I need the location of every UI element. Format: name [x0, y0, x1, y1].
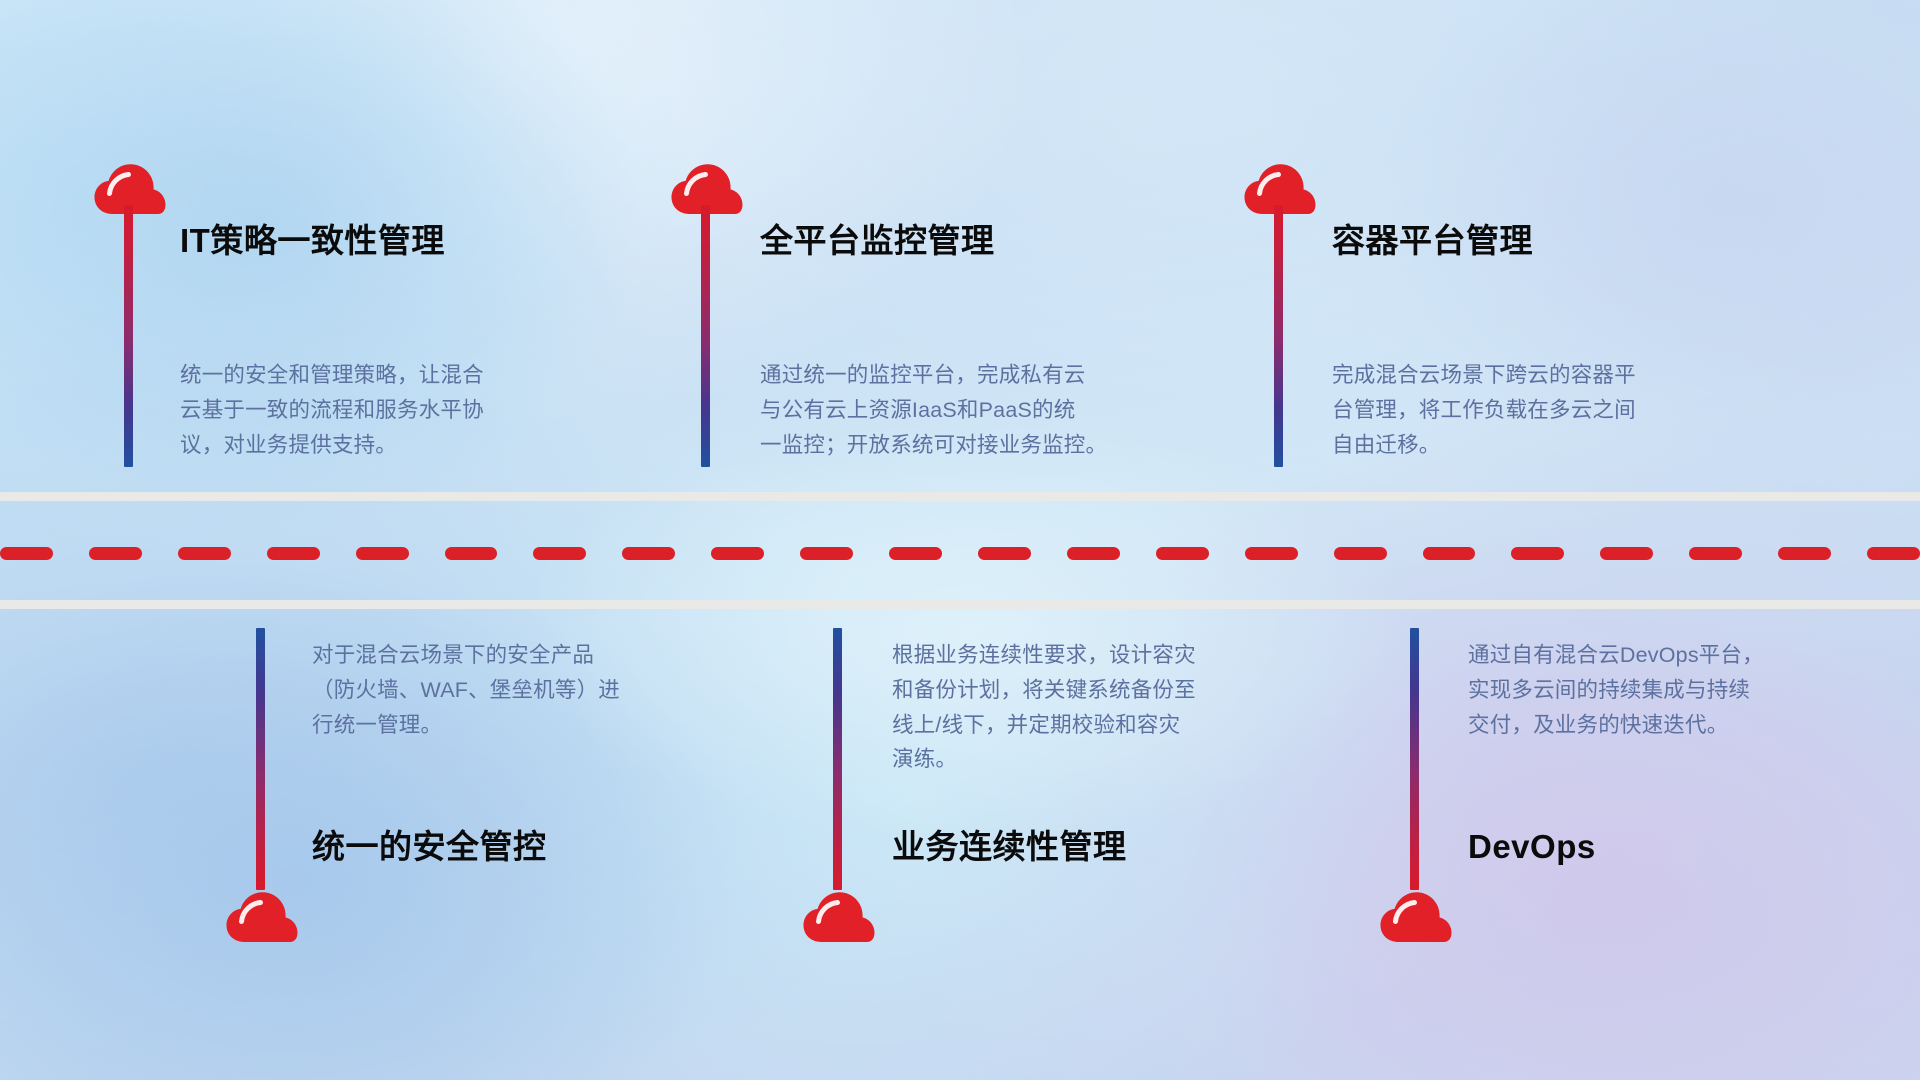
feature-description: 根据业务连续性要求，设计容灾 和备份计划，将关键系统备份至 线上/线下，并定期校… — [892, 638, 1332, 777]
road-dash — [1156, 547, 1209, 560]
feature-description: 通过自有混合云DevOps平台， 实现多云间的持续集成与持续 交付，及业务的快速… — [1468, 638, 1908, 742]
road-edge-top — [0, 492, 1920, 501]
road-dash — [622, 547, 675, 560]
road-dash — [267, 547, 320, 560]
road-edge-bottom — [0, 600, 1920, 609]
road-dash — [711, 547, 764, 560]
road-center-dashes — [0, 546, 1920, 560]
road-dash — [1689, 547, 1742, 560]
feature-title: 全平台监控管理 — [760, 224, 995, 257]
road-dash — [800, 547, 853, 560]
road-dash — [1867, 547, 1920, 560]
feature-title: 业务连续性管理 — [892, 830, 1127, 863]
cloud-icon — [802, 888, 876, 944]
road-dash — [89, 547, 142, 560]
road-dash — [533, 547, 586, 560]
road-dash — [1600, 547, 1653, 560]
road-dash — [889, 547, 942, 560]
feature-description: 通过统一的监控平台，完成私有云 与公有云上资源IaaS和PaaS的统 一监控；开… — [760, 358, 1210, 462]
road-dash — [1778, 547, 1831, 560]
road-dash — [356, 547, 409, 560]
feature-title: DevOps — [1468, 830, 1596, 863]
feature-title: IT策略一致性管理 — [180, 224, 445, 257]
feature-title: 统一的安全管控 — [312, 830, 547, 863]
connector-bar — [256, 628, 265, 890]
road-dash — [178, 547, 231, 560]
connector-bar — [1274, 205, 1283, 467]
road-dash — [1423, 547, 1476, 560]
connector-bar — [124, 205, 133, 467]
feature-description: 统一的安全和管理策略，让混合 云基于一致的流程和服务水平协 议，对业务提供支持。 — [180, 358, 610, 462]
feature-description: 对于混合云场景下的安全产品 （防火墙、WAF、堡垒机等）进 行统一管理。 — [312, 638, 742, 742]
cloud-icon — [225, 888, 299, 944]
road-dash — [978, 547, 1031, 560]
connector-bar — [701, 205, 710, 467]
road-dash — [445, 547, 498, 560]
road-dash — [1334, 547, 1387, 560]
infographic-canvas: IT策略一致性管理 统一的安全和管理策略，让混合 云基于一致的流程和服务水平协 … — [0, 0, 1920, 1080]
road-dash — [0, 547, 53, 560]
feature-title: 容器平台管理 — [1332, 224, 1533, 257]
connector-bar — [1410, 628, 1419, 890]
cloud-icon — [1379, 888, 1453, 944]
connector-bar — [833, 628, 842, 890]
feature-description: 完成混合云场景下跨云的容器平 台管理，将工作负载在多云之间 自由迁移。 — [1332, 358, 1782, 462]
road-dash — [1245, 547, 1298, 560]
road-dash — [1511, 547, 1564, 560]
road-dash — [1067, 547, 1120, 560]
